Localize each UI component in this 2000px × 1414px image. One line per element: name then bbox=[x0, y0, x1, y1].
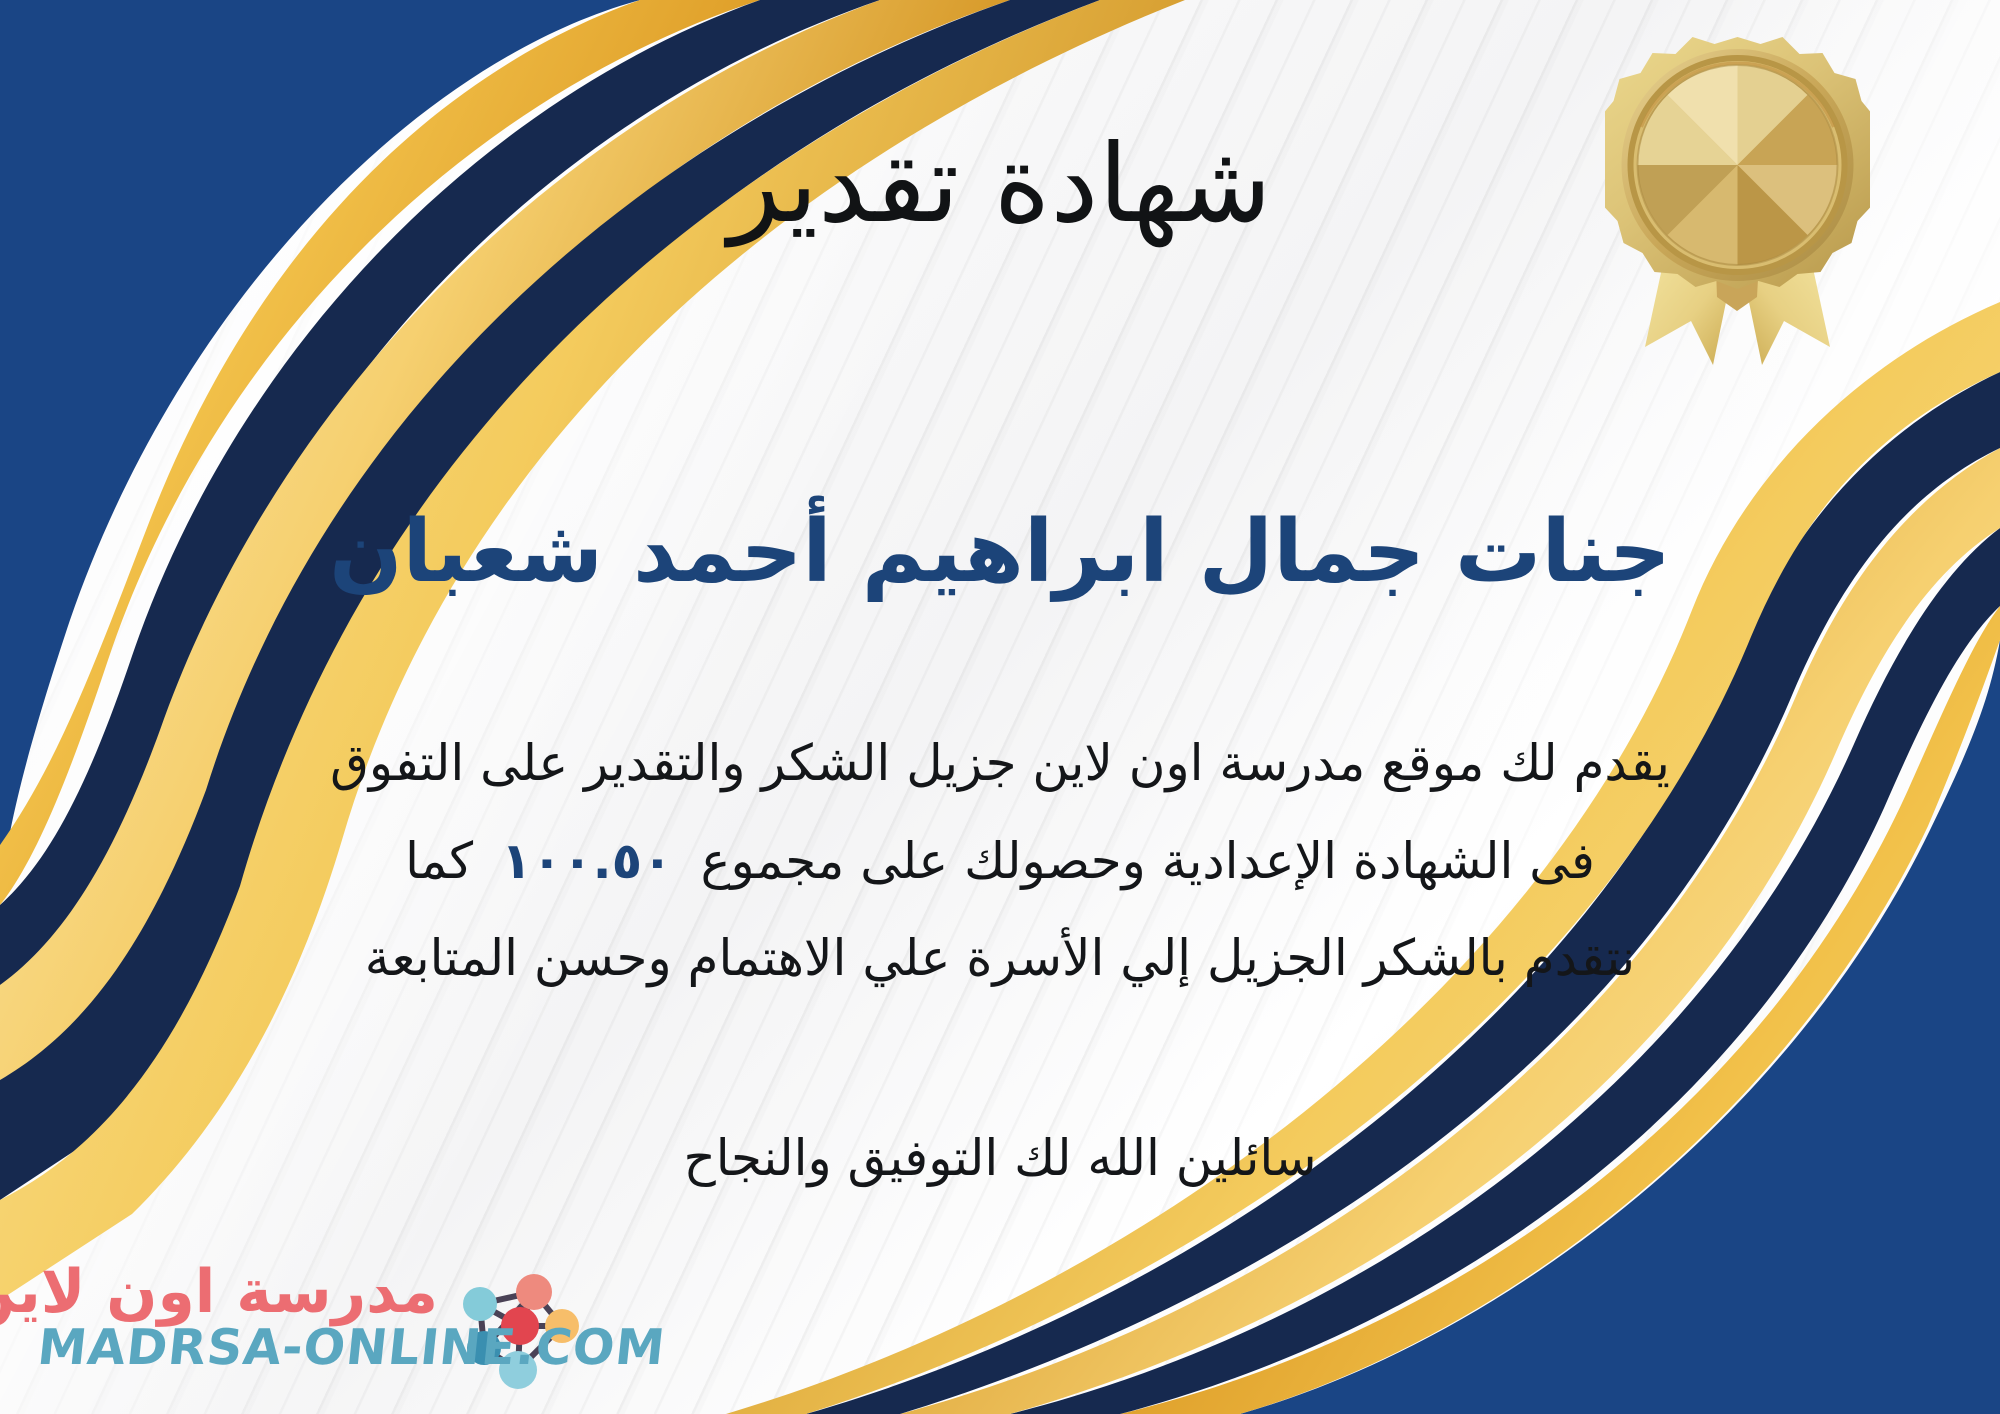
brand-domain: MADRSA-ONLINE.COM bbox=[35, 1322, 440, 1373]
body-line-1: يقدم لك موقع مدرسة اون لاين جزيل الشكر و… bbox=[120, 715, 1880, 813]
certificate-canvas: شهادة تقدير جنات جمال ابراهيم أحمد شعبان… bbox=[0, 0, 2000, 1414]
brand-logo-text: مدرسة اون لاين MADRSA-ONLINE.COM bbox=[38, 1262, 438, 1373]
body-line-2-suffix: كما bbox=[405, 832, 473, 890]
body-line-2: فى الشهادة الإعدادية وحصولك على مجموع١٠٠… bbox=[120, 813, 1880, 911]
certificate-body: يقدم لك موقع مدرسة اون لاين جزيل الشكر و… bbox=[120, 715, 1880, 1008]
closing-line: سائلين الله لك التوفيق والنجاح bbox=[0, 1118, 2000, 1198]
body-line-3: نتقدم بالشكر الجزيل إلي الأسرة علي الاهت… bbox=[120, 910, 1880, 1008]
recipient-name: جنات جمال ابراهيم أحمد شعبان bbox=[0, 505, 2000, 600]
brand-name-arabic: مدرسة اون لاين bbox=[38, 1262, 438, 1322]
page-title: شهادة تقدير bbox=[0, 128, 2000, 241]
brand-logo[interactable]: مدرسة اون لاين MADRSA-ONLINE.COM bbox=[28, 1262, 588, 1402]
grade-value: ١٠٠.٥٠ bbox=[473, 813, 701, 911]
body-line-2-prefix: فى الشهادة الإعدادية وحصولك على مجموع bbox=[701, 832, 1595, 890]
certificate-content: شهادة تقدير جنات جمال ابراهيم أحمد شعبان… bbox=[0, 0, 2000, 1414]
